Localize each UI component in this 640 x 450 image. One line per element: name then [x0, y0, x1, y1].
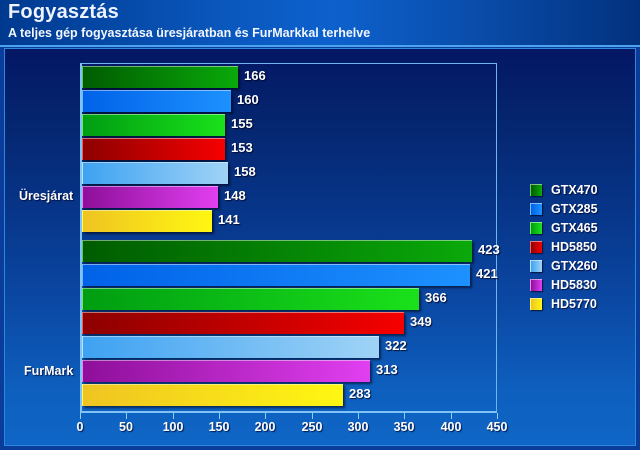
bar-value-label: 166 [244, 68, 266, 83]
bar-group-furmark: 423421366349322313283 [82, 240, 496, 410]
legend-item-hd5850[interactable]: HD5850 [530, 238, 635, 256]
legend-item-gtx465[interactable]: GTX465 [530, 219, 635, 237]
legend-item-gtx470[interactable]: GTX470 [530, 181, 635, 199]
header-divider [0, 45, 640, 47]
legend-label: GTX465 [551, 221, 598, 235]
legend-label: HD5830 [551, 278, 597, 292]
legend-swatch-icon [530, 203, 542, 215]
x-axis-tick [126, 413, 127, 419]
bar-row: 349 [82, 312, 496, 335]
bar-row: 283 [82, 384, 496, 407]
page-title: Fogyasztás [8, 1, 119, 24]
bar-value-label: 158 [234, 164, 256, 179]
x-axis-tick-label: 450 [487, 420, 508, 434]
bar-value-label: 148 [224, 188, 246, 203]
bar-row: 423 [82, 240, 496, 263]
x-axis-tick-label: 300 [348, 420, 369, 434]
x-axis-tick-label: 0 [77, 420, 84, 434]
x-axis-tick-label: 150 [209, 420, 230, 434]
bar-row: 158 [82, 162, 496, 185]
bar-value-label: 349 [410, 314, 432, 329]
chart-legend: GTX470GTX285GTX465HD5850GTX260HD5830HD57… [530, 181, 635, 314]
legend-swatch-icon [530, 260, 542, 272]
legend-swatch-icon [530, 222, 542, 234]
x-axis-tick [80, 413, 81, 419]
bar-row: 153 [82, 138, 496, 161]
bar-gtx465 [82, 288, 419, 310]
bar-value-label: 155 [231, 116, 253, 131]
legend-label: HD5770 [551, 297, 597, 311]
legend-label: GTX260 [551, 259, 598, 273]
bar-group-idle: 166160155153158148141 [82, 66, 496, 232]
bar-value-label: 313 [376, 362, 398, 377]
x-axis-tick [497, 413, 498, 419]
bar-value-label: 141 [218, 212, 240, 227]
bar-value-label: 283 [349, 386, 371, 401]
x-axis-tick [219, 413, 220, 419]
bar-hd5830 [82, 186, 218, 208]
bar-row: 141 [82, 210, 496, 233]
legend-label: HD5850 [551, 240, 597, 254]
x-axis-tick [404, 413, 405, 419]
chart-screenshot: Fogyasztás A teljes gép fogyasztása üres… [0, 0, 640, 450]
bar-gtx260 [82, 336, 379, 358]
legend-swatch-icon [530, 279, 542, 291]
bar-hd5830 [82, 360, 370, 382]
bar-value-label: 160 [237, 92, 259, 107]
legend-label: GTX470 [551, 183, 598, 197]
bar-value-label: 421 [476, 266, 498, 281]
header-banner: Fogyasztás A teljes gép fogyasztása üres… [0, 0, 640, 47]
bar-gtx260 [82, 162, 228, 184]
x-axis-tick [173, 413, 174, 419]
page-subtitle: A teljes gép fogyasztása üresjáratban és… [8, 26, 370, 40]
bar-gtx465 [82, 114, 225, 136]
bar-row: 313 [82, 360, 496, 383]
bar-hd5770 [82, 384, 343, 406]
legend-label: GTX285 [551, 202, 598, 216]
x-axis-tick-label: 200 [255, 420, 276, 434]
legend-swatch-icon [530, 241, 542, 253]
plot-area: 166160155153158148141 423421366349322313… [80, 63, 497, 413]
bar-gtx285 [82, 90, 231, 112]
legend-item-gtx260[interactable]: GTX260 [530, 257, 635, 275]
bar-hd5770 [82, 210, 212, 232]
x-axis-tick [265, 413, 266, 419]
bar-row: 322 [82, 336, 496, 359]
chart-frame: Üresjárat FurMark 166160155153158148141 … [4, 48, 636, 446]
bar-row: 421 [82, 264, 496, 287]
category-label-idle: Üresjárat [19, 189, 73, 203]
bar-gtx470 [82, 240, 472, 262]
x-axis-tick-label: 100 [163, 420, 184, 434]
x-axis: 050100150200250300350400450 [80, 413, 499, 443]
bar-row: 166 [82, 66, 496, 89]
bar-gtx285 [82, 264, 470, 286]
bar-row: 148 [82, 186, 496, 209]
bar-value-label: 322 [385, 338, 407, 353]
x-axis-tick-label: 250 [302, 420, 323, 434]
category-label-furmark: FurMark [24, 364, 73, 378]
legend-swatch-icon [530, 184, 542, 196]
bar-hd5850 [82, 138, 225, 160]
x-axis-tick-label: 50 [119, 420, 133, 434]
legend-item-hd5830[interactable]: HD5830 [530, 276, 635, 294]
legend-swatch-icon [530, 298, 542, 310]
x-axis-tick [312, 413, 313, 419]
x-axis-tick [451, 413, 452, 419]
bar-gtx470 [82, 66, 238, 88]
bar-hd5850 [82, 312, 404, 334]
x-axis-tick [358, 413, 359, 419]
legend-item-gtx285[interactable]: GTX285 [530, 200, 635, 218]
x-axis-tick-label: 350 [394, 420, 415, 434]
bar-row: 155 [82, 114, 496, 137]
x-axis-tick-label: 400 [441, 420, 462, 434]
bar-value-label: 366 [425, 290, 447, 305]
bar-value-label: 153 [231, 140, 253, 155]
bar-row: 366 [82, 288, 496, 311]
legend-item-hd5770[interactable]: HD5770 [530, 295, 635, 313]
bar-value-label: 423 [478, 242, 500, 257]
bar-row: 160 [82, 90, 496, 113]
